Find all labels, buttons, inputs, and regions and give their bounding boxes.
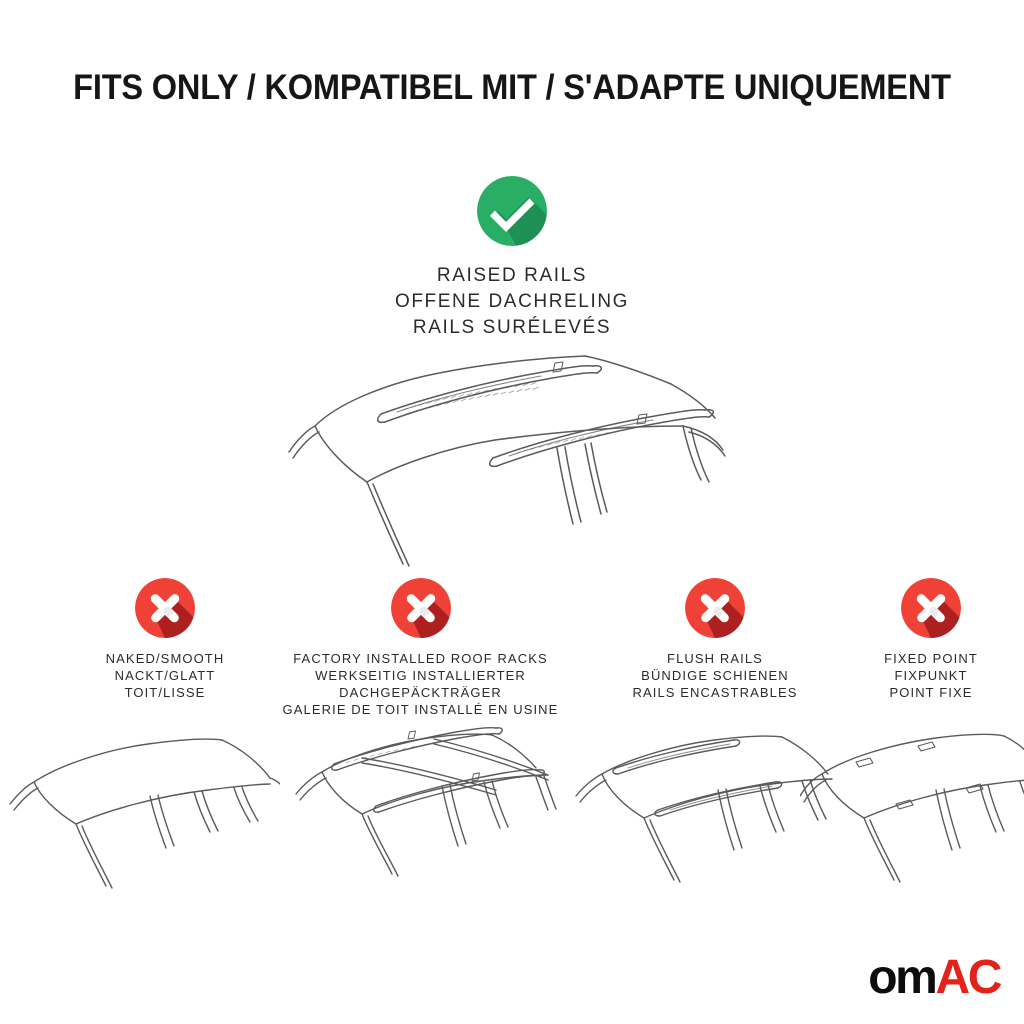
compatible-label-line-fr: RAILS SURÉLEVÉS bbox=[395, 315, 629, 341]
label-line-de-1: WERKSEITIG INSTALLIERTER bbox=[283, 667, 559, 684]
check-circle-icon bbox=[477, 176, 547, 246]
incompatible-label: FACTORY INSTALLED ROOF RACKS WERKSEITIG … bbox=[283, 650, 559, 718]
compatible-option: RAISED RAILS OFFENE DACHRELING RAILS SUR… bbox=[0, 176, 1024, 341]
incompatible-label: FIXED POINT FIXPUNKT POINT FIXE bbox=[884, 650, 978, 701]
label-line-en: FLUSH RAILS bbox=[632, 650, 797, 667]
incompatible-option-flush-rails: FLUSH RAILS BÜNDIGE SCHIENEN RAILS ENCAS… bbox=[590, 578, 840, 701]
compatible-label-line-en: RAISED RAILS bbox=[395, 263, 629, 289]
label-line-en: FIXED POINT bbox=[884, 650, 978, 667]
label-line-de: NACKT/GLATT bbox=[106, 667, 225, 684]
car-roof-raised-rails-illustration bbox=[285, 348, 745, 573]
label-line-de: BÜNDIGE SCHIENEN bbox=[632, 667, 797, 684]
label-line-en: FACTORY INSTALLED ROOF RACKS bbox=[283, 650, 559, 667]
cross-circle-icon bbox=[391, 578, 451, 638]
label-line-fr: TOIT/LISSE bbox=[106, 684, 225, 701]
incompatible-option-fixed-point: FIXED POINT FIXPUNKT POINT FIXE bbox=[838, 578, 1024, 701]
incompatible-label: NAKED/SMOOTH NACKT/GLATT TOIT/LISSE bbox=[106, 650, 225, 701]
label-line-de: FIXPUNKT bbox=[884, 667, 978, 684]
compatible-label: RAISED RAILS OFFENE DACHRELING RAILS SUR… bbox=[395, 263, 629, 341]
page-title: FITS ONLY / KOMPATIBEL MIT / S'ADAPTE UN… bbox=[36, 68, 988, 108]
fitment-infographic: FITS ONLY / KOMPATIBEL MIT / S'ADAPTE UN… bbox=[0, 0, 1024, 1024]
incompatible-options-row: NAKED/SMOOTH NACKT/GLATT TOIT/LISSE bbox=[0, 578, 1024, 728]
incompatible-option-factory-roof-racks: FACTORY INSTALLED ROOF RACKS WERKSEITIG … bbox=[263, 578, 578, 718]
label-line-en: NAKED/SMOOTH bbox=[106, 650, 225, 667]
car-roof-fixed-point-illustration bbox=[800, 722, 1024, 892]
incompatible-label: FLUSH RAILS BÜNDIGE SCHIENEN RAILS ENCAS… bbox=[632, 650, 797, 701]
car-roof-naked-smooth-illustration bbox=[8, 722, 280, 892]
logo-text-ac: AC bbox=[935, 954, 1000, 1002]
cross-circle-icon bbox=[901, 578, 961, 638]
logo-text-om: om bbox=[868, 954, 935, 1002]
label-line-fr: GALERIE DE TOIT INSTALLÉ EN USINE bbox=[283, 701, 559, 718]
compatible-label-line-de: OFFENE DACHRELING bbox=[395, 289, 629, 315]
label-line-de-2: DACHGEPÄCKTRÄGER bbox=[283, 684, 559, 701]
label-line-fr: POINT FIXE bbox=[884, 684, 978, 701]
cross-circle-icon bbox=[135, 578, 195, 638]
cross-circle-icon bbox=[685, 578, 745, 638]
label-line-fr: RAILS ENCASTRABLES bbox=[632, 684, 797, 701]
omac-logo: om AC bbox=[868, 954, 1000, 1002]
car-roof-factory-racks-illustration bbox=[282, 720, 572, 890]
